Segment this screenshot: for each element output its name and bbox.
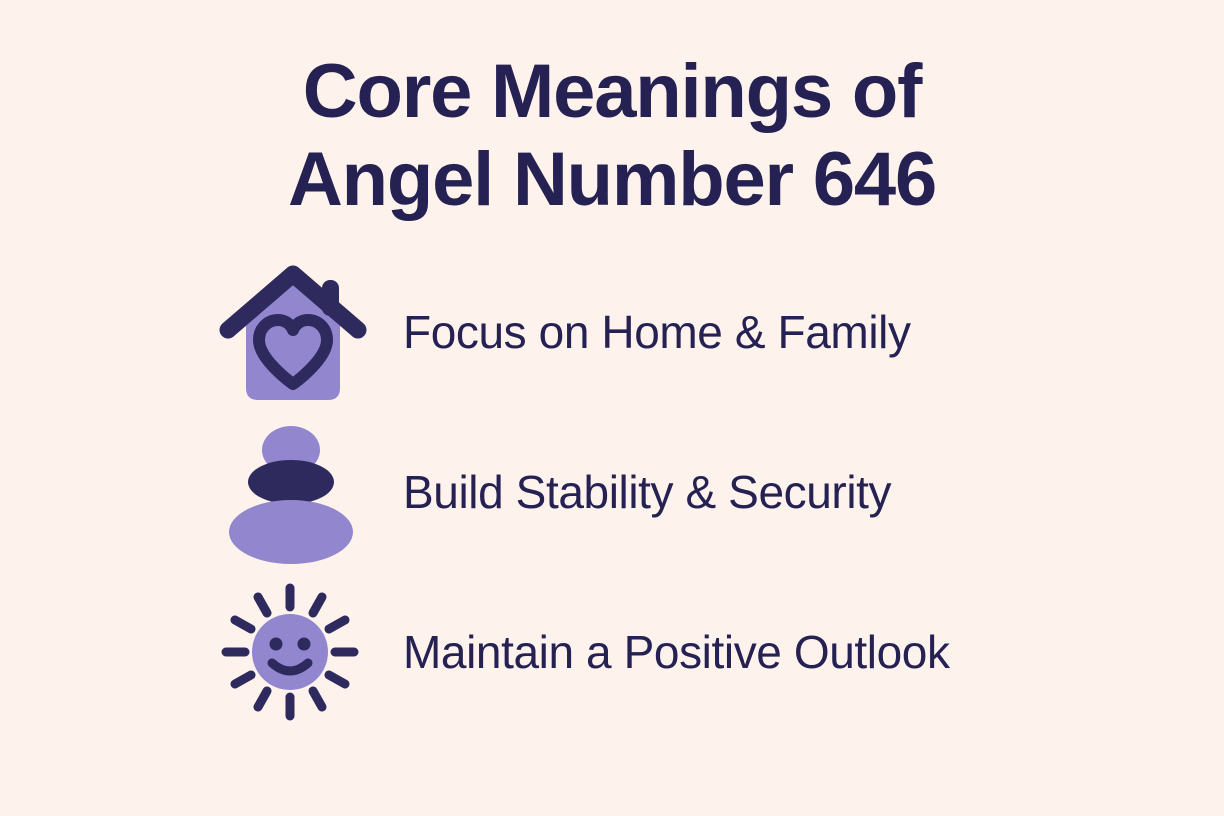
stacked-stones-icon (218, 417, 378, 567)
list-item: Maintain a Positive Outlook (0, 572, 1224, 732)
title-line-1: Core Meanings of (0, 48, 1224, 136)
infographic-poster: Core Meanings of Angel Number 646 Focus … (0, 0, 1224, 816)
list-item-label: Focus on Home & Family (403, 305, 911, 359)
title-line-2: Angel Number 646 (0, 136, 1224, 224)
meanings-list: Focus on Home & Family Build Stability &… (0, 252, 1224, 732)
list-item-label: Build Stability & Security (403, 465, 891, 519)
list-item: Build Stability & Security (0, 412, 1224, 572)
smiling-sun-icon (218, 577, 378, 727)
list-item: Focus on Home & Family (0, 252, 1224, 412)
page-title: Core Meanings of Angel Number 646 (0, 48, 1224, 224)
house-heart-icon (218, 257, 378, 407)
list-item-label: Maintain a Positive Outlook (403, 625, 950, 679)
